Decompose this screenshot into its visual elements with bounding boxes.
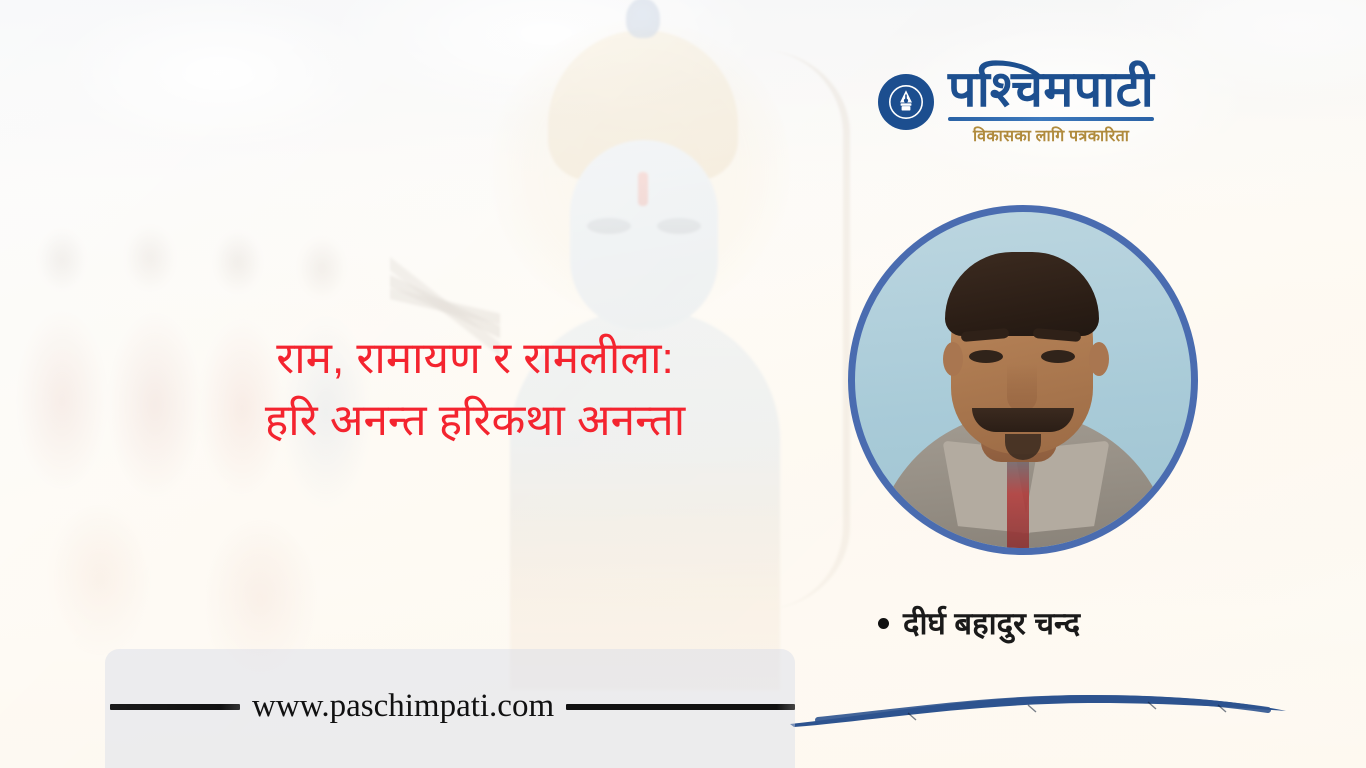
author-byline: दीर्घ बहादुर चन्द bbox=[878, 602, 1080, 644]
article-card: पश्चिमपाटी विकासका लागि पत्रकारिता राम, … bbox=[0, 0, 1366, 768]
footer-rule-right bbox=[566, 704, 795, 710]
headline-line-1: राम, रामायण र रामलीला: bbox=[150, 328, 800, 390]
author-name: दीर्घ बहादुर चन्द bbox=[903, 602, 1080, 644]
portrait-eye-right bbox=[1041, 350, 1075, 363]
headline-line-2: हरि अनन्त हरिकथा अनन्ता bbox=[150, 390, 800, 452]
portrait-ear-right bbox=[1089, 342, 1109, 376]
portrait-nose bbox=[1007, 364, 1037, 412]
portrait-placket bbox=[1007, 458, 1029, 548]
avatar bbox=[848, 205, 1198, 555]
page-title: राम, रामायण र रामलीला: हरि अनन्त हरिकथा … bbox=[150, 328, 800, 453]
website-url[interactable]: www.paschimpati.com bbox=[240, 688, 566, 725]
brand-wordmark: पश्चिमपाटी विकासका लागि पत्रकारिता bbox=[948, 64, 1154, 146]
brand-tagline: विकासका लागि पत्रकारिता bbox=[948, 124, 1154, 146]
fountain-pen-nib-icon bbox=[878, 74, 934, 130]
footer-rule-left bbox=[110, 704, 240, 710]
brand-logo[interactable]: पश्चिमपाटी विकासका लागि पत्रकारिता bbox=[878, 64, 1154, 146]
brand-name: पश्चिमपाटी bbox=[948, 64, 1154, 114]
portrait-eye-left bbox=[969, 350, 1003, 363]
footer-url-row: www.paschimpati.com bbox=[105, 688, 795, 725]
brand-underline bbox=[948, 117, 1154, 121]
portrait-ear-left bbox=[943, 342, 963, 376]
portrait-moustache bbox=[972, 408, 1074, 432]
bullet-icon bbox=[878, 618, 889, 629]
brush-stroke-decoration bbox=[788, 686, 1288, 732]
